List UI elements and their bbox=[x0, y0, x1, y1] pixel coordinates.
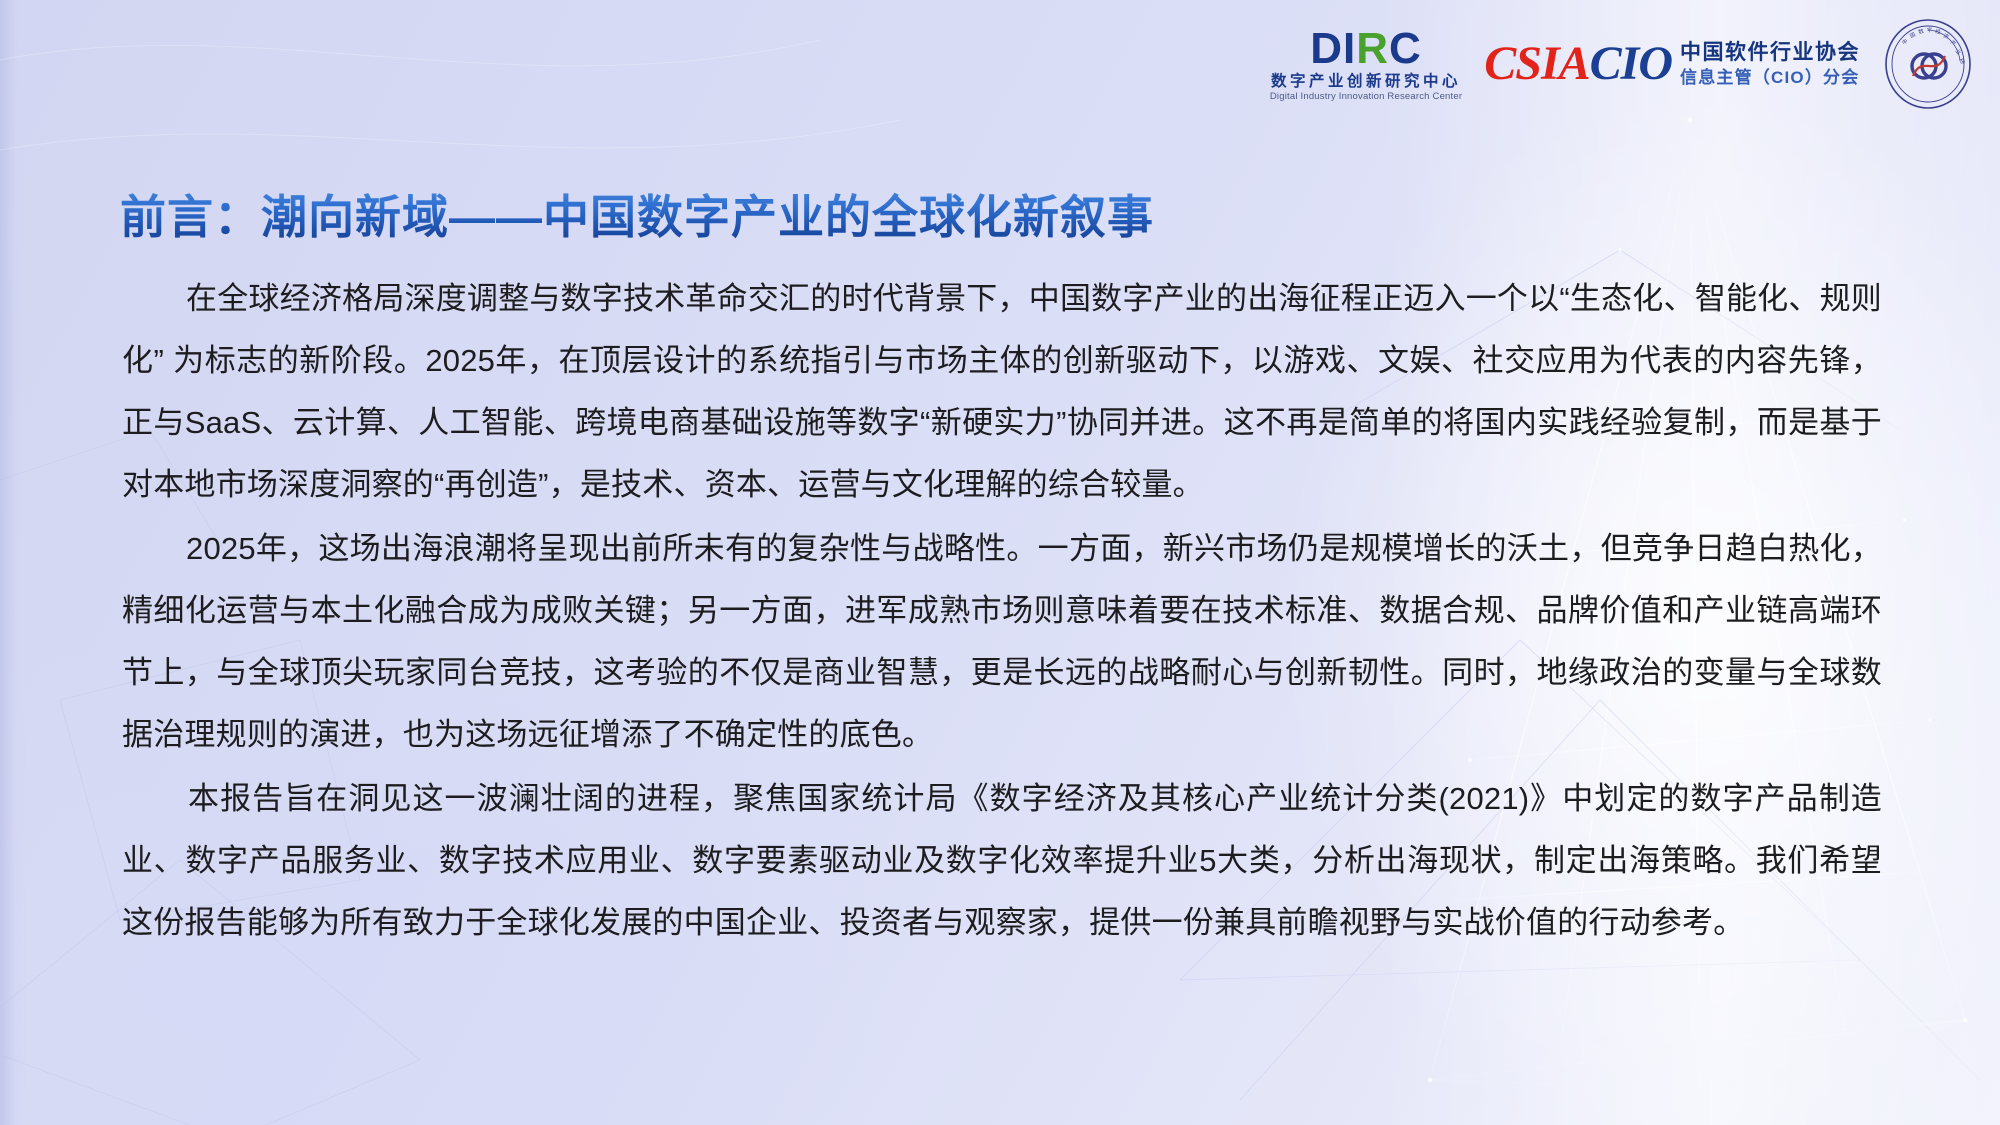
svg-text:产: 产 bbox=[1949, 38, 1958, 48]
dirc-letter-i: I bbox=[1343, 27, 1356, 71]
svg-text:字: 字 bbox=[1927, 26, 1933, 34]
dirc-wordmark: DIRC bbox=[1310, 27, 1422, 71]
slide-root: DIRC 数字产业创新研究中心 Digital Industry Innovat… bbox=[0, 0, 2000, 1125]
svg-text:业: 业 bbox=[1954, 47, 1964, 57]
csia-mark-red: CSIA bbox=[1484, 40, 1589, 88]
dirc-chinese-name: 数字产业创新研究中心 bbox=[1271, 74, 1461, 90]
svg-text:国: 国 bbox=[1909, 31, 1917, 40]
page-title: 前言：潮向新域——中国数字产业的全球化新叙事 bbox=[120, 181, 1154, 247]
dirc-letter-r: R bbox=[1356, 27, 1389, 71]
csiacio-logo: CSIACIO 中国软件行业协会 信息主管（CIO）分会 bbox=[1484, 40, 1860, 88]
svg-text:数: 数 bbox=[1917, 27, 1925, 36]
svg-text:研: 研 bbox=[1957, 58, 1966, 67]
csiacio-chinese-bottom: 信息主管（CIO）分会 bbox=[1680, 68, 1860, 87]
dirc-english-name: Digital Industry Innovation Research Cen… bbox=[1270, 92, 1462, 102]
csia-mark-blue: CIO bbox=[1590, 40, 1672, 88]
csiacio-chinese-top: 中国软件行业协会 bbox=[1680, 41, 1860, 65]
logo-bar: DIRC 数字产业创新研究中心 Digital Industry Innovat… bbox=[1270, 16, 1974, 112]
dirc-letter-c: C bbox=[1389, 27, 1422, 71]
paragraph-3: 本报告旨在洞见这一波澜壮阔的进程，聚焦国家统计局《数字经济及其核心产业统计分类(… bbox=[122, 768, 1882, 954]
paragraph-2: 2025年，这场出海浪潮将呈现出前所未有的复杂性与战略性。一方面，新兴市场仍是规… bbox=[122, 518, 1882, 766]
dirc-logo: DIRC 数字产业创新研究中心 Digital Industry Innovat… bbox=[1270, 27, 1462, 101]
background-left-edge bbox=[0, 0, 26, 1125]
dirc-letter-d: D bbox=[1310, 27, 1343, 71]
csiacio-wordmark: CSIACIO bbox=[1484, 40, 1672, 88]
circular-seal-logo: 中 国 数 字 经 济 产 业 研 bbox=[1882, 18, 1974, 110]
paragraph-1: 在全球经济格局深度调整与数字技术革命交汇的时代背景下，中国数字产业的出海征程正迈… bbox=[122, 268, 1882, 516]
csiacio-chinese-block: 中国软件行业协会 信息主管（CIO）分会 bbox=[1680, 41, 1860, 87]
body-copy: 在全球经济格局深度调整与数字技术革命交汇的时代背景下，中国数字产业的出海征程正迈… bbox=[122, 268, 1882, 956]
